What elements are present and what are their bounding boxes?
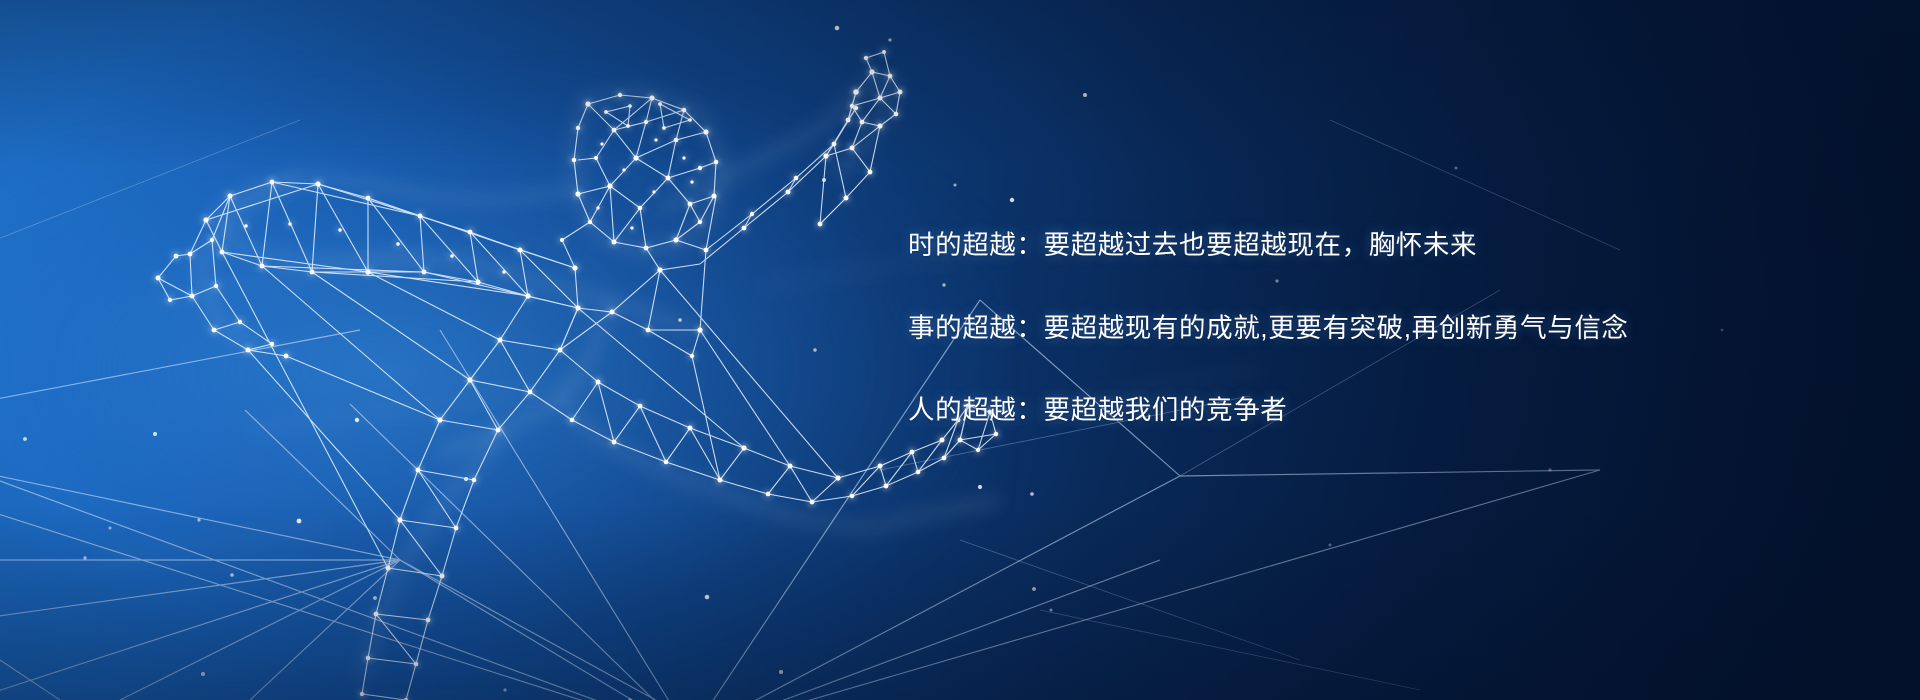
hero-banner: 时的超越：要超越过去也要超越现在，胸怀未来 事的超越：要超越现有的成就,更要有突… xyxy=(0,0,1920,700)
tagline-line-3: 人的超越：要超越我们的竞争者 xyxy=(908,397,1838,424)
tagline-text-block: 时的超越：要超越过去也要超越现在，胸怀未来 事的超越：要超越现有的成就,更要有突… xyxy=(908,232,1838,424)
tagline-line-2: 事的超越：要超越现有的成就,更要有突破,再创新勇气与信念 xyxy=(908,315,1838,342)
tagline-line-1: 时的超越：要超越过去也要超越现在，胸怀未来 xyxy=(908,232,1838,259)
